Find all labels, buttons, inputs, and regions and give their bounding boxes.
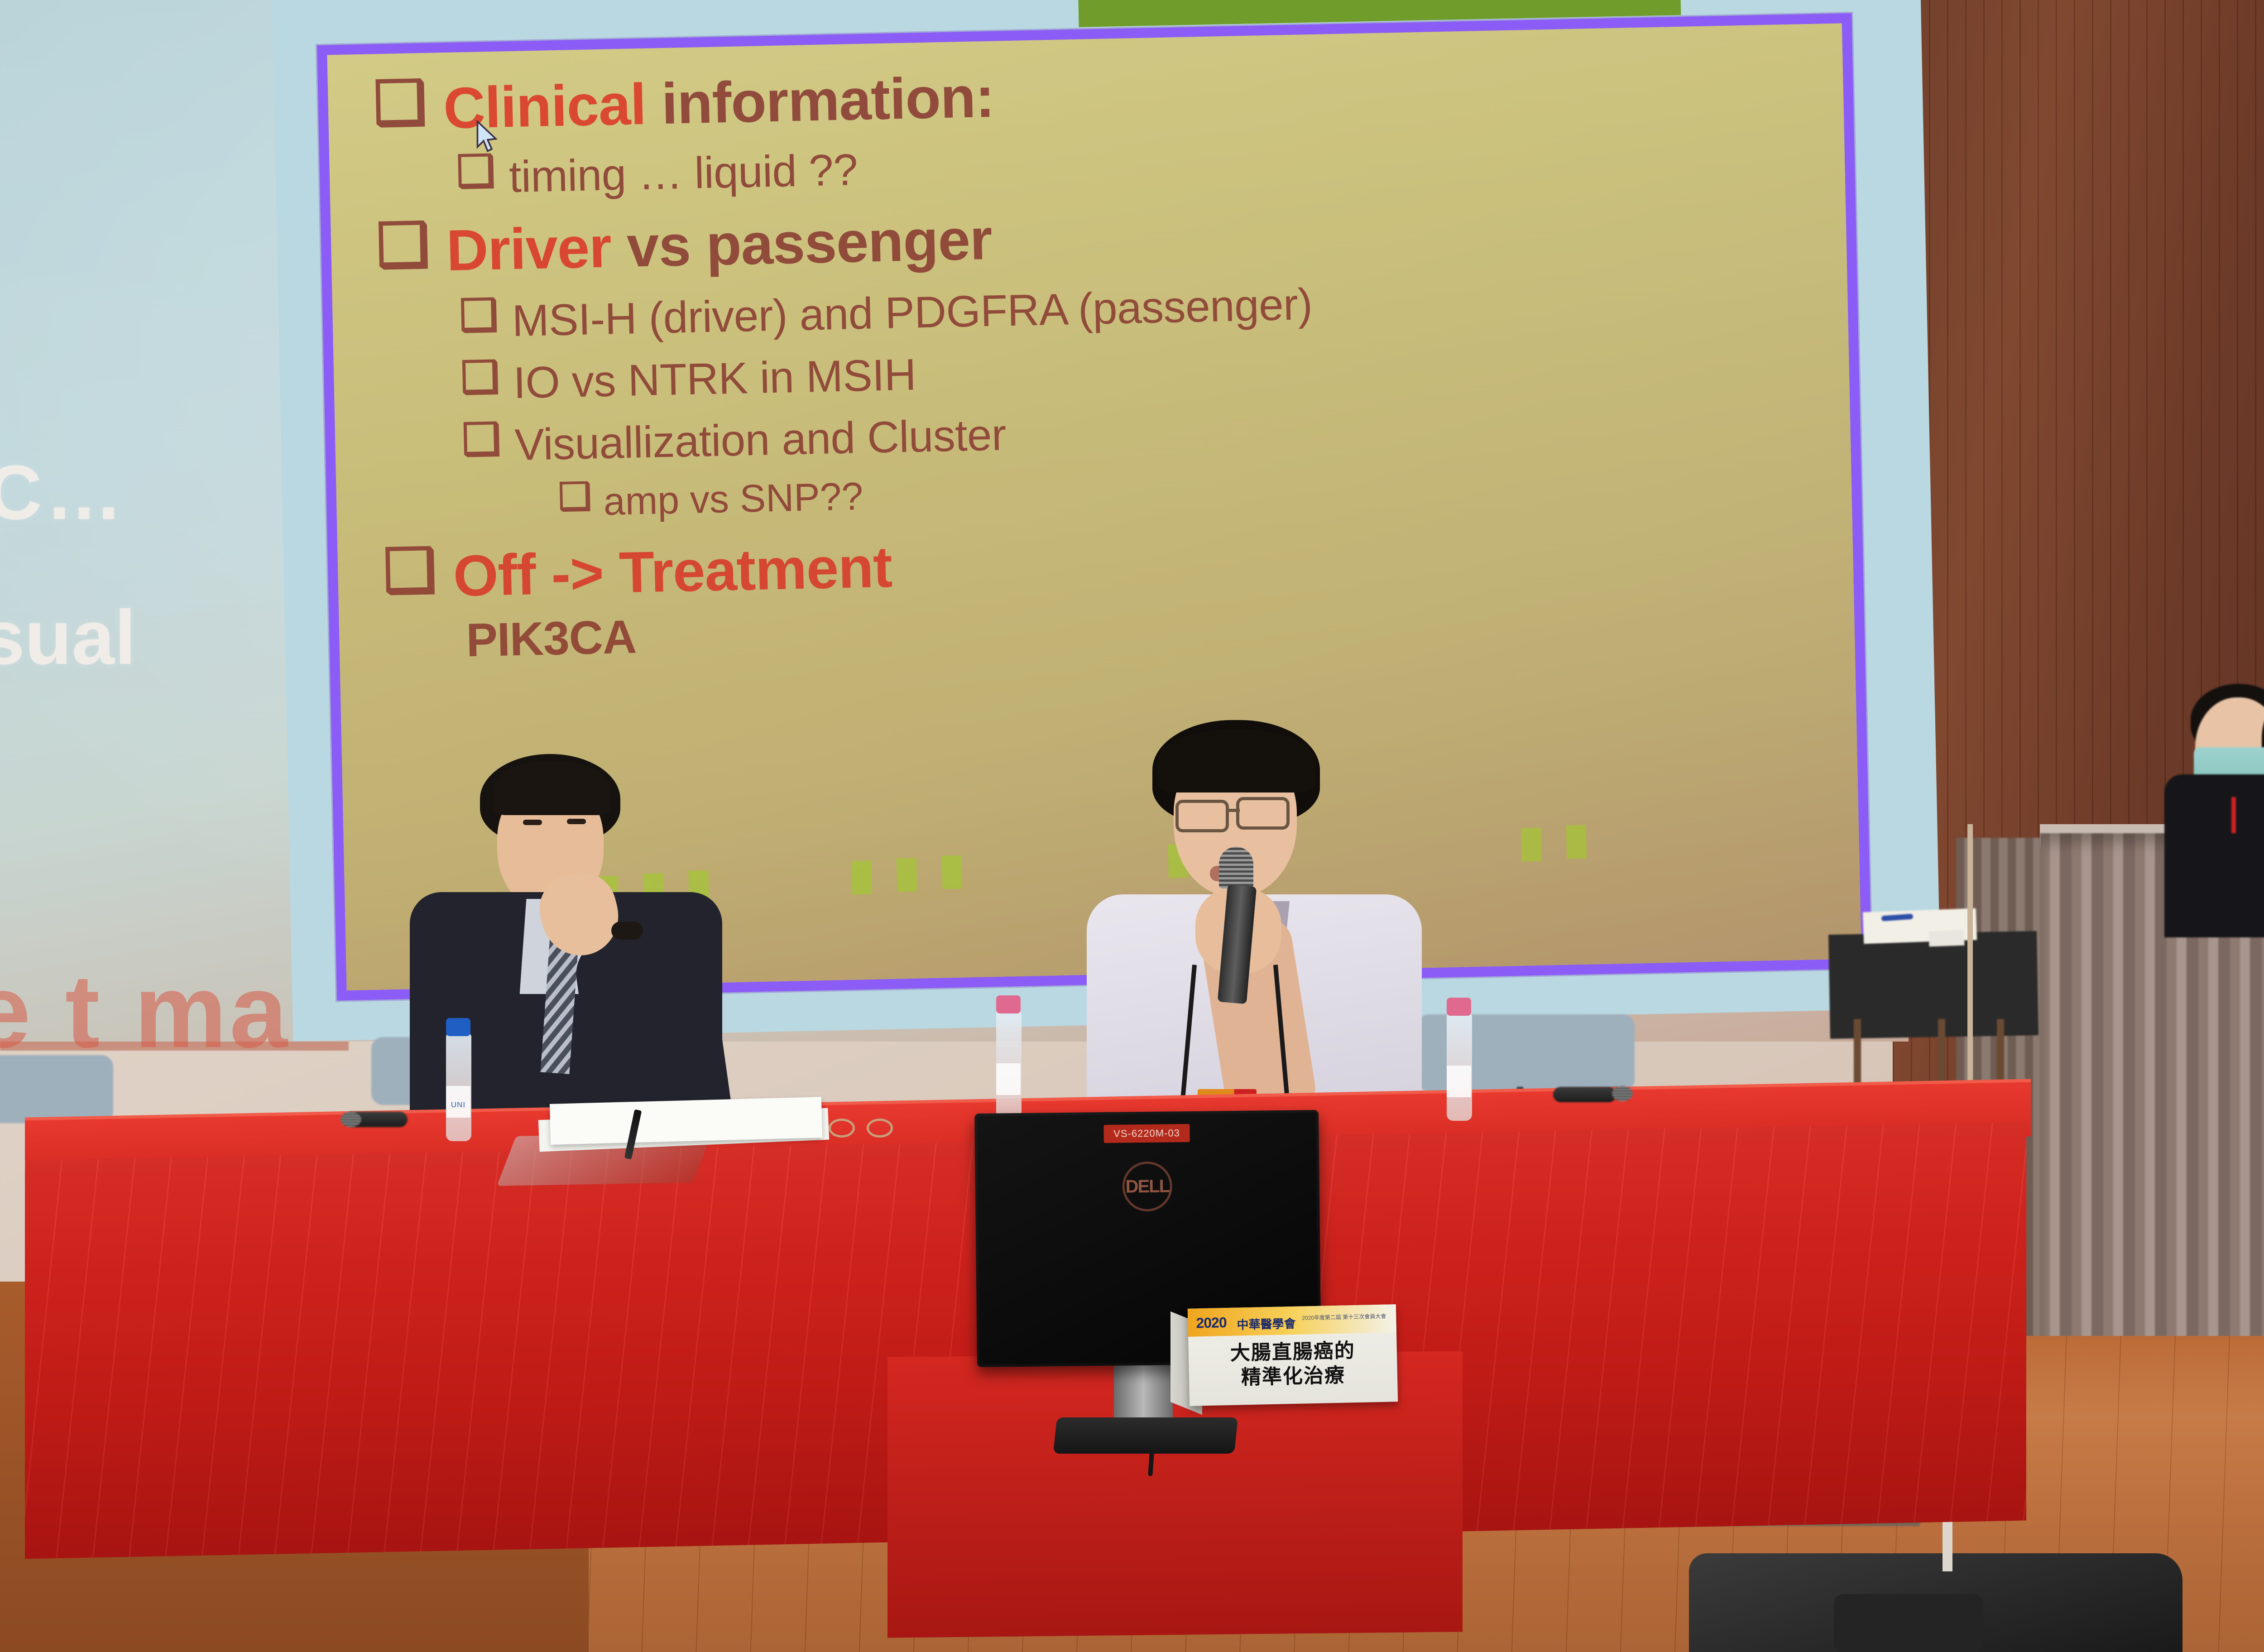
slide-line-8-text: -> Treatment xyxy=(535,535,892,607)
slide-line-1-text: information: xyxy=(645,65,995,137)
speaker-grille xyxy=(1834,1594,1983,1652)
bullet-square-icon: ❑ xyxy=(461,420,501,460)
bullet-square-icon: ❑ xyxy=(460,358,500,398)
chair-far-left xyxy=(0,1055,113,1123)
monitor-base xyxy=(1053,1417,1238,1454)
slide-line-5-text: IO vs NTRK in MSIH xyxy=(513,349,917,408)
overflow-text-line2: sual xyxy=(0,593,136,682)
slide-line-1-highlight: Clinical xyxy=(443,72,647,141)
slide-line-7-text: amp vs SNP?? xyxy=(603,474,864,524)
water-bottle-left[interactable]: UNI xyxy=(446,1032,471,1141)
bottle-label xyxy=(996,1063,1021,1095)
staff-lanyard xyxy=(2231,797,2236,833)
speaker-fringe xyxy=(1157,729,1316,792)
bottle-cap xyxy=(1447,998,1471,1016)
nameplate-title-line1: 大腸直腸癌的 xyxy=(1188,1338,1397,1366)
panelist-left-watch xyxy=(611,922,643,940)
table-microphone-right[interactable] xyxy=(1553,1087,1616,1102)
slide-line-2-text: timing … liquid ?? xyxy=(508,144,858,202)
table-microphone-right-head xyxy=(1612,1086,1633,1101)
panelist-left-eye xyxy=(523,820,542,825)
microphone-head[interactable] xyxy=(1219,847,1253,888)
nameplate-title: 大腸直腸癌的 精準化治療 xyxy=(1188,1338,1397,1391)
speaker-glasses-left-lens xyxy=(1175,800,1229,832)
bullet-square-icon: ❑ xyxy=(459,296,499,336)
side-table-box xyxy=(1928,930,1964,947)
water-bottle-center[interactable] xyxy=(996,1010,1022,1119)
bullet-square-icon: ❑ xyxy=(558,480,592,514)
paper-stack[interactable] xyxy=(550,1097,822,1145)
session-nameplate: 2020 中華醫學會 2020年度第二屆 第十三次會員大會 大腸直腸癌的 精準化… xyxy=(1188,1304,1398,1406)
overflow-text-line1: C… xyxy=(0,448,126,537)
slide-line-6-text: Visuallization and Cluster xyxy=(514,409,1007,471)
slide-line-3-text: vs passenger xyxy=(610,207,993,280)
slide-line-9-text: PIK3CA xyxy=(465,610,637,668)
nameplate-year: 2020 xyxy=(1196,1314,1227,1331)
panelist-left-fringe xyxy=(494,761,610,815)
panelist-left-eye xyxy=(567,819,586,824)
bottle-label-text: UNI xyxy=(446,1100,470,1109)
water-bottle-right[interactable] xyxy=(1447,1012,1472,1121)
staff-body xyxy=(2164,774,2264,937)
conference-photo-scene: C… sual e t ma ❑ Clinical information: ❑… xyxy=(0,0,2264,1652)
nameplate-organization: 中華醫學會 xyxy=(1237,1315,1296,1333)
mouse-pointer-icon xyxy=(475,120,500,154)
bullet-square-icon: ❑ xyxy=(383,543,437,598)
slide-line-3: ❑ Driver vs passenger xyxy=(376,189,1819,286)
table-microphone-left-head xyxy=(341,1112,361,1127)
bullet-square-icon: ❑ xyxy=(373,76,427,130)
monitor-asset-tag: VS-6220M-03 xyxy=(1103,1124,1190,1143)
nameplate-title-line2: 精準化治療 xyxy=(1189,1362,1397,1391)
slide-line-8-highlight: Off xyxy=(452,542,536,609)
slide-line-3-highlight: Driver xyxy=(446,215,612,283)
slide-line-4-text: MSI-H (driver) and PDGFRA (passenger) xyxy=(512,279,1313,346)
bottle-cap xyxy=(446,1018,470,1036)
reading-glasses[interactable] xyxy=(829,1119,897,1141)
bullet-square-icon: ❑ xyxy=(376,218,431,273)
bullet-square-icon: ❑ xyxy=(456,152,496,192)
speaker-glasses-bridge xyxy=(1226,809,1240,812)
bottle-label xyxy=(1447,1066,1471,1097)
bottle-cap xyxy=(996,995,1021,1013)
overflow-text-line3: e t ma xyxy=(0,951,290,1071)
dell-logo-icon: DELL xyxy=(1122,1161,1172,1211)
bottle-label: UNI xyxy=(446,1086,470,1118)
speaker-glasses-right-lens xyxy=(1236,797,1290,830)
